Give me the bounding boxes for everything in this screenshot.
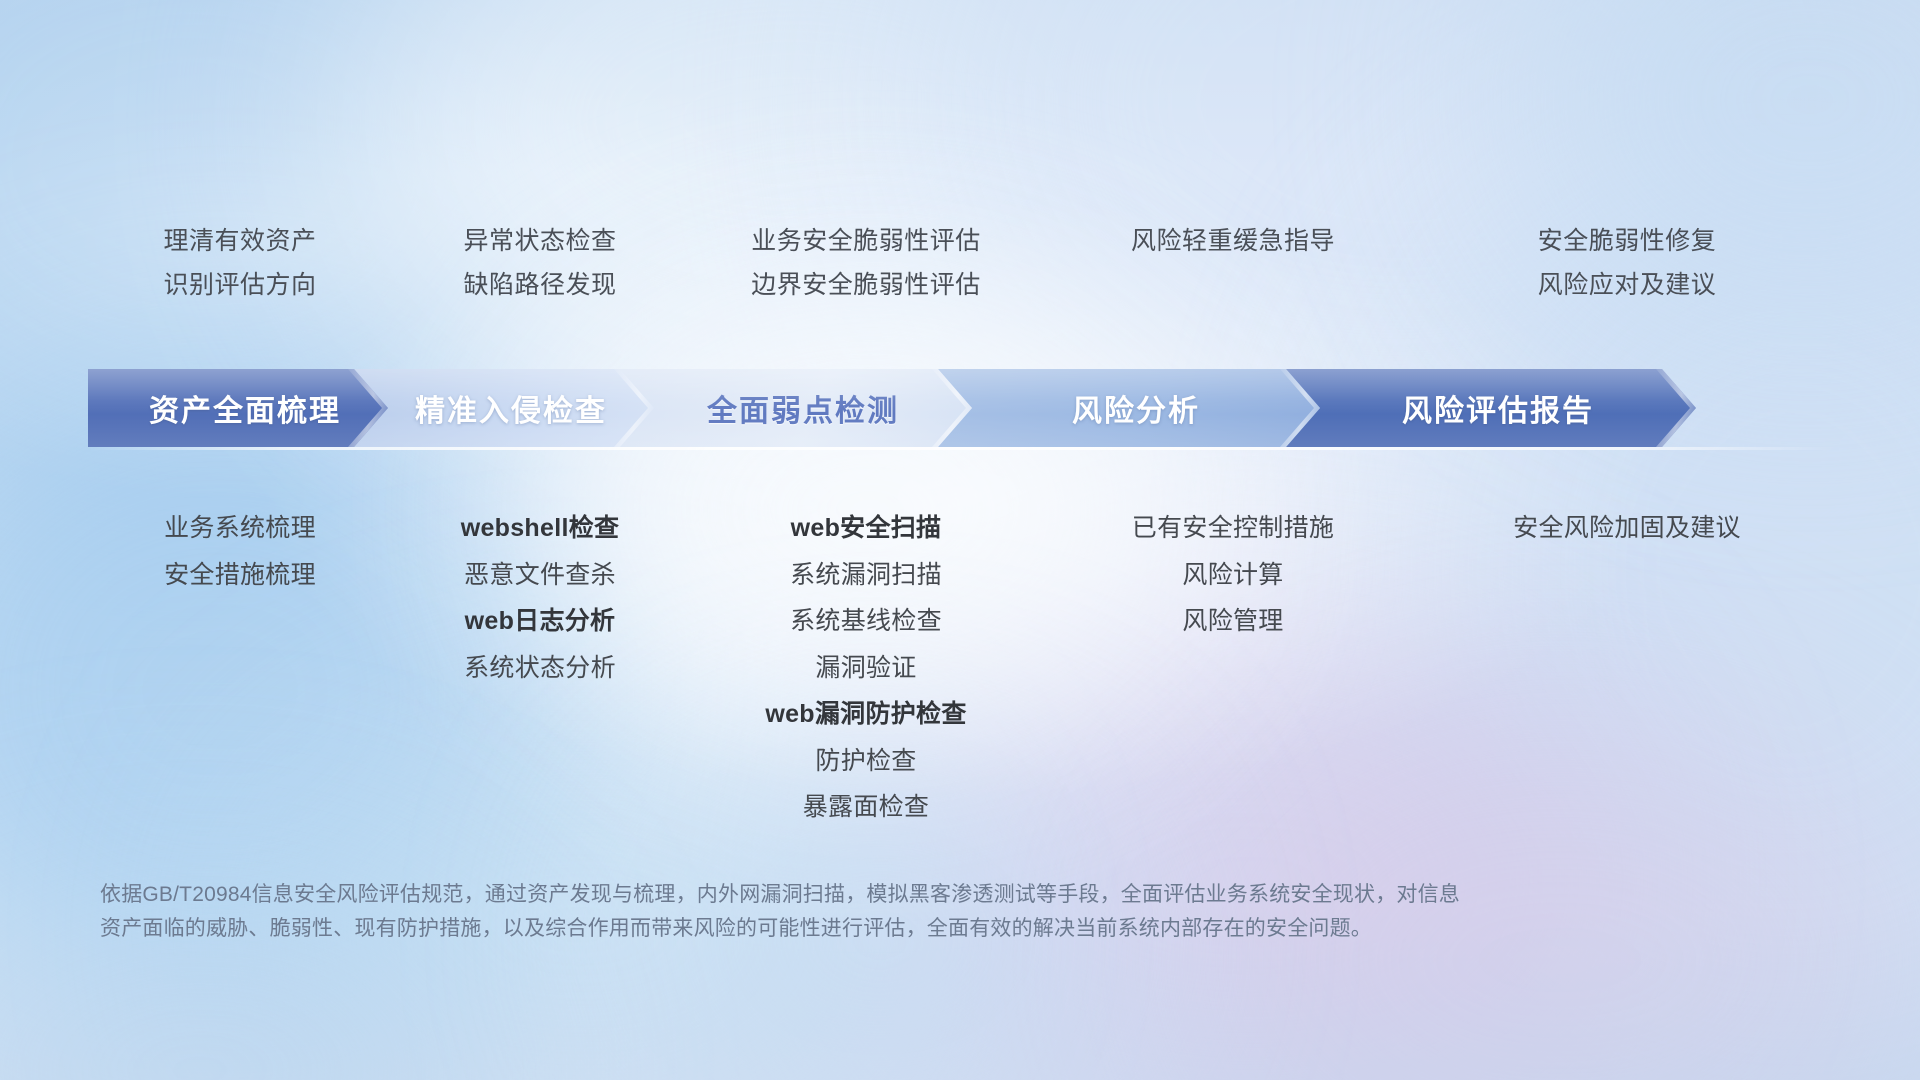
step-5-item-list: 安全风险加固及建议: [1424, 512, 1830, 545]
step-4-item-list: 已有安全控制措施风险计算风险管理: [1042, 512, 1424, 638]
step-2-item-list: webshell检查恶意文件查杀web日志分析系统状态分析: [390, 512, 690, 684]
list-item: 恶意文件查杀: [464, 559, 616, 592]
top-caption-line: 异常状态检查: [463, 225, 616, 257]
process-step-3[interactable]: 全面弱点检测: [620, 369, 972, 447]
list-item: web安全扫描: [791, 512, 942, 545]
process-step-5-label: 风险评估报告: [1286, 386, 1696, 430]
list-item: 系统基线检查: [790, 605, 942, 638]
process-step-2[interactable]: 精准入侵检查: [354, 369, 654, 447]
footer-line-2: 资产面临的威胁、脆弱性、现有防护措施，以及综合作用而带来风险的可能性进行评估，全…: [100, 912, 1620, 946]
process-step-1-label: 资产全面梳理: [88, 386, 388, 430]
step-detail-row: 业务系统梳理安全措施梳理webshell检查恶意文件查杀web日志分析系统状态分…: [90, 512, 1830, 824]
list-item: 安全措施梳理: [164, 559, 316, 592]
top-caption-line: 理清有效资产: [163, 225, 316, 257]
list-item: 安全风险加固及建议: [1513, 512, 1741, 545]
footer-description: 依据GB/T20984信息安全风险评估规范，通过资产发现与梳理，内外网漏洞扫描，…: [100, 878, 1620, 946]
top-caption-line: 识别评估方向: [163, 269, 316, 301]
top-caption-col-2: 异常状态检查缺陷路径发现: [390, 225, 690, 335]
process-diagram: 理清有效资产识别评估方向异常状态检查缺陷路径发现业务安全脆弱性评估边界安全脆弱性…: [0, 0, 1920, 1080]
list-item: 业务系统梳理: [164, 512, 316, 545]
process-step-4-label: 风险分析: [938, 386, 1320, 430]
process-step-1[interactable]: 资产全面梳理: [88, 369, 388, 447]
top-caption-col-4: 风险轻重缓急指导: [1042, 225, 1424, 335]
list-item: 已有安全控制措施: [1132, 512, 1334, 545]
process-step-5[interactable]: 风险评估报告: [1286, 369, 1696, 447]
footer-line-1: 依据GB/T20984信息安全风险评估规范，通过资产发现与梳理，内外网漏洞扫描，…: [100, 878, 1620, 912]
process-step-2-label: 精准入侵检查: [354, 386, 654, 430]
list-item: 风险计算: [1182, 559, 1283, 592]
top-caption-line: 边界安全脆弱性评估: [751, 269, 981, 301]
step-1-item-list: 业务系统梳理安全措施梳理: [90, 512, 390, 591]
process-chevron-band: 资产全面梳理精准入侵检查全面弱点检测风险分析风险评估报告: [88, 369, 1832, 447]
list-item: 防护检查: [815, 745, 916, 778]
top-caption-line: 缺陷路径发现: [463, 269, 616, 301]
top-caption-line: 业务安全脆弱性评估: [751, 225, 981, 257]
top-caption-col-1: 理清有效资产识别评估方向: [90, 225, 390, 335]
list-item: 漏洞验证: [815, 652, 916, 685]
list-item: webshell检查: [461, 512, 620, 545]
list-item: 系统漏洞扫描: [790, 559, 942, 592]
step-3-item-list: web安全扫描系统漏洞扫描系统基线检查漏洞验证web漏洞防护检查防护检查暴露面检…: [690, 512, 1042, 824]
chevron-band-underline: [88, 447, 1836, 450]
process-step-4[interactable]: 风险分析: [938, 369, 1320, 447]
top-caption-row: 理清有效资产识别评估方向异常状态检查缺陷路径发现业务安全脆弱性评估边界安全脆弱性…: [90, 225, 1830, 335]
list-item: 风险管理: [1182, 605, 1283, 638]
top-caption-line: 风险应对及建议: [1538, 269, 1717, 301]
list-item: 系统状态分析: [464, 652, 616, 685]
list-item: 暴露面检查: [803, 791, 930, 824]
top-caption-line: 风险轻重缓急指导: [1131, 225, 1335, 257]
top-caption-col-3: 业务安全脆弱性评估边界安全脆弱性评估: [690, 225, 1042, 335]
list-item: web日志分析: [465, 605, 616, 638]
top-caption-col-5: 安全脆弱性修复风险应对及建议: [1424, 225, 1830, 335]
process-step-3-label: 全面弱点检测: [620, 386, 972, 430]
top-caption-line: 安全脆弱性修复: [1538, 225, 1717, 257]
list-item: web漏洞防护检查: [765, 698, 966, 731]
